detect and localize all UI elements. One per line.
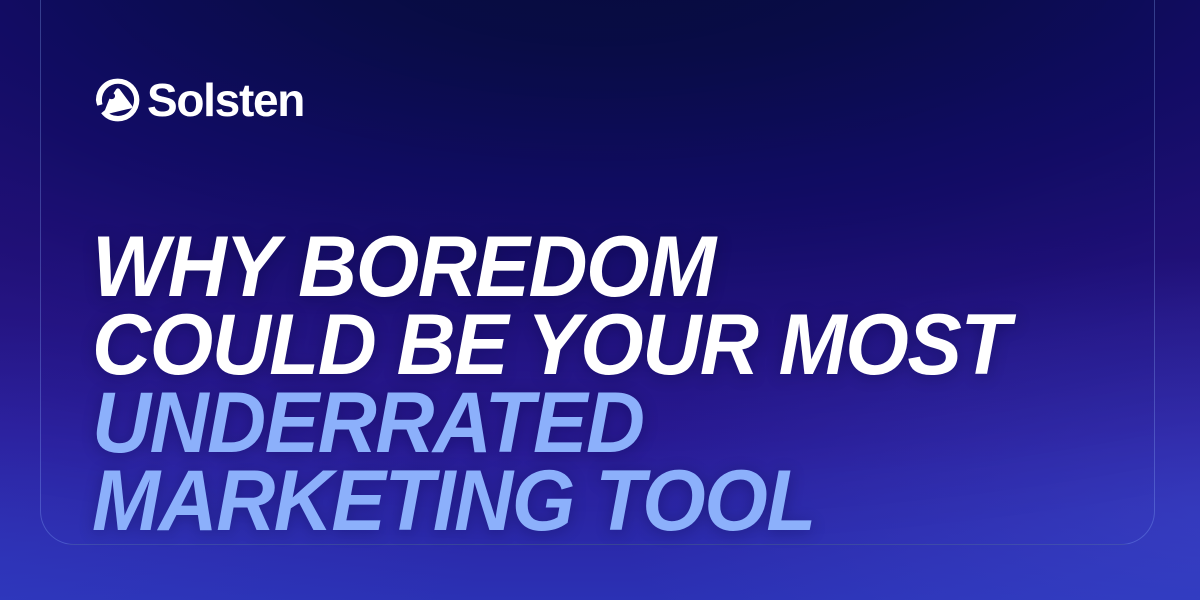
- solsten-mountain-circle-icon: [95, 77, 141, 123]
- headline-block: WHY BOREDOM COULD BE YOUR MOST UNDERRATE…: [92, 228, 1152, 540]
- headline-line-4: MARKETING TOOL: [92, 462, 1099, 540]
- headline-line-2: COULD BE YOUR MOST: [92, 306, 1099, 384]
- solsten-logo: Solsten: [95, 75, 304, 125]
- headline-line-3: UNDERRATED: [92, 384, 1099, 462]
- social-card-canvas: Solsten WHY BOREDOM COULD BE YOUR MOST U…: [0, 0, 1200, 600]
- headline-line-1: WHY BOREDOM: [92, 228, 1099, 306]
- brand-wordmark: Solsten: [147, 77, 304, 123]
